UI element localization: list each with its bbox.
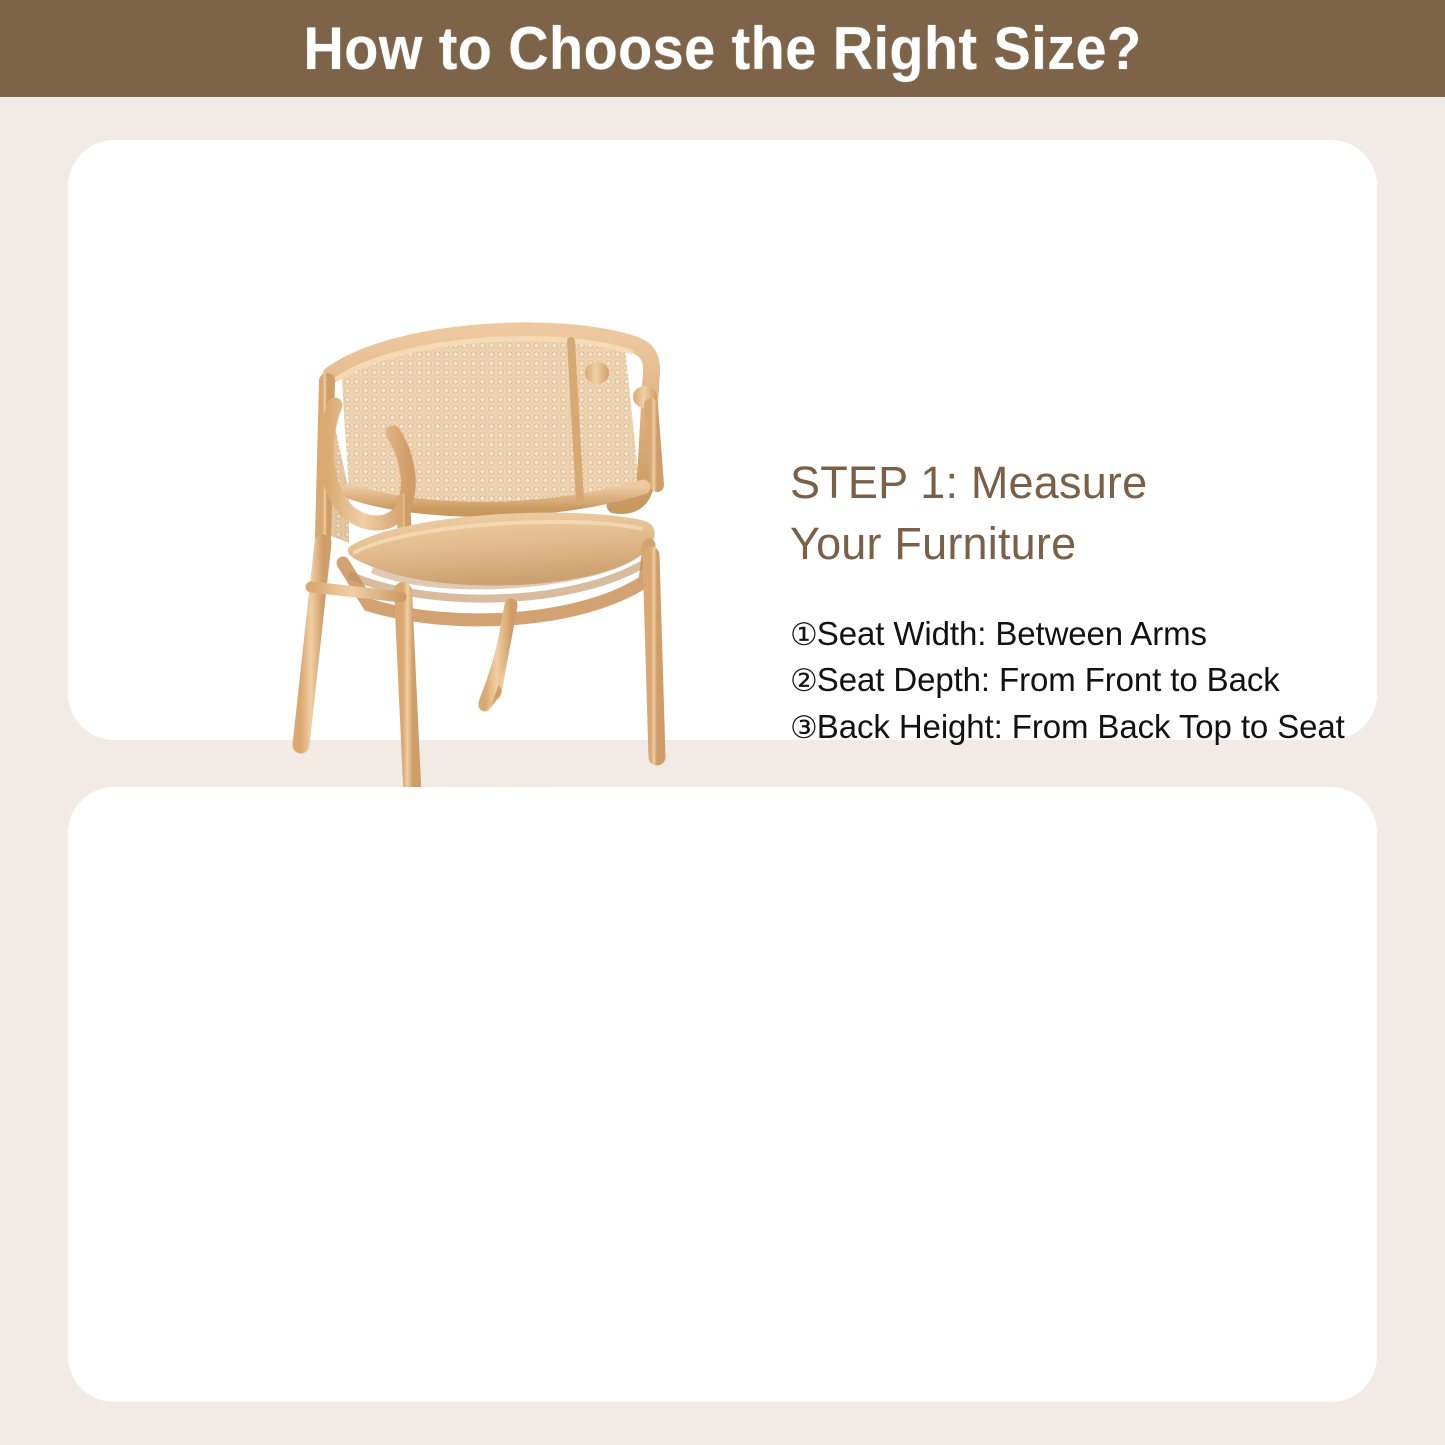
- bullet-text: Seat Width: Between Arms: [817, 615, 1207, 652]
- bullet-text: Seat Depth: From Front to Back: [817, 661, 1280, 698]
- step-1-card: STEP 1: Measure Your Furniture ①Seat Wid…: [68, 140, 1377, 740]
- circled-number-3: ③: [790, 710, 817, 745]
- bullet-line: ③Back Height: From Back Top to Seat: [790, 704, 1410, 751]
- header-banner: How to Choose the Right Size?: [0, 0, 1445, 97]
- step-1-bullet-list: ①Seat Width: Between Arms ②Seat Depth: F…: [790, 611, 1410, 752]
- bullet-text: Back Height: From Back Top to Seat: [817, 708, 1345, 745]
- circled-number-2: ②: [790, 663, 817, 698]
- bullet-line: ①Seat Width: Between Arms: [790, 611, 1410, 658]
- step-1-heading: STEP 1: Measure Your Furniture: [790, 453, 1410, 575]
- chair-illustration: [253, 305, 733, 855]
- step-2-card: STEP 2: Select the Cushion According to …: [68, 787, 1377, 1402]
- step-1-text-block: STEP 1: Measure Your Furniture ①Seat Wid…: [790, 453, 1410, 751]
- circled-number-1: ①: [790, 617, 817, 652]
- bullet-line: ②Seat Depth: From Front to Back: [790, 657, 1410, 704]
- page-title: How to Choose the Right Size?: [303, 14, 1141, 83]
